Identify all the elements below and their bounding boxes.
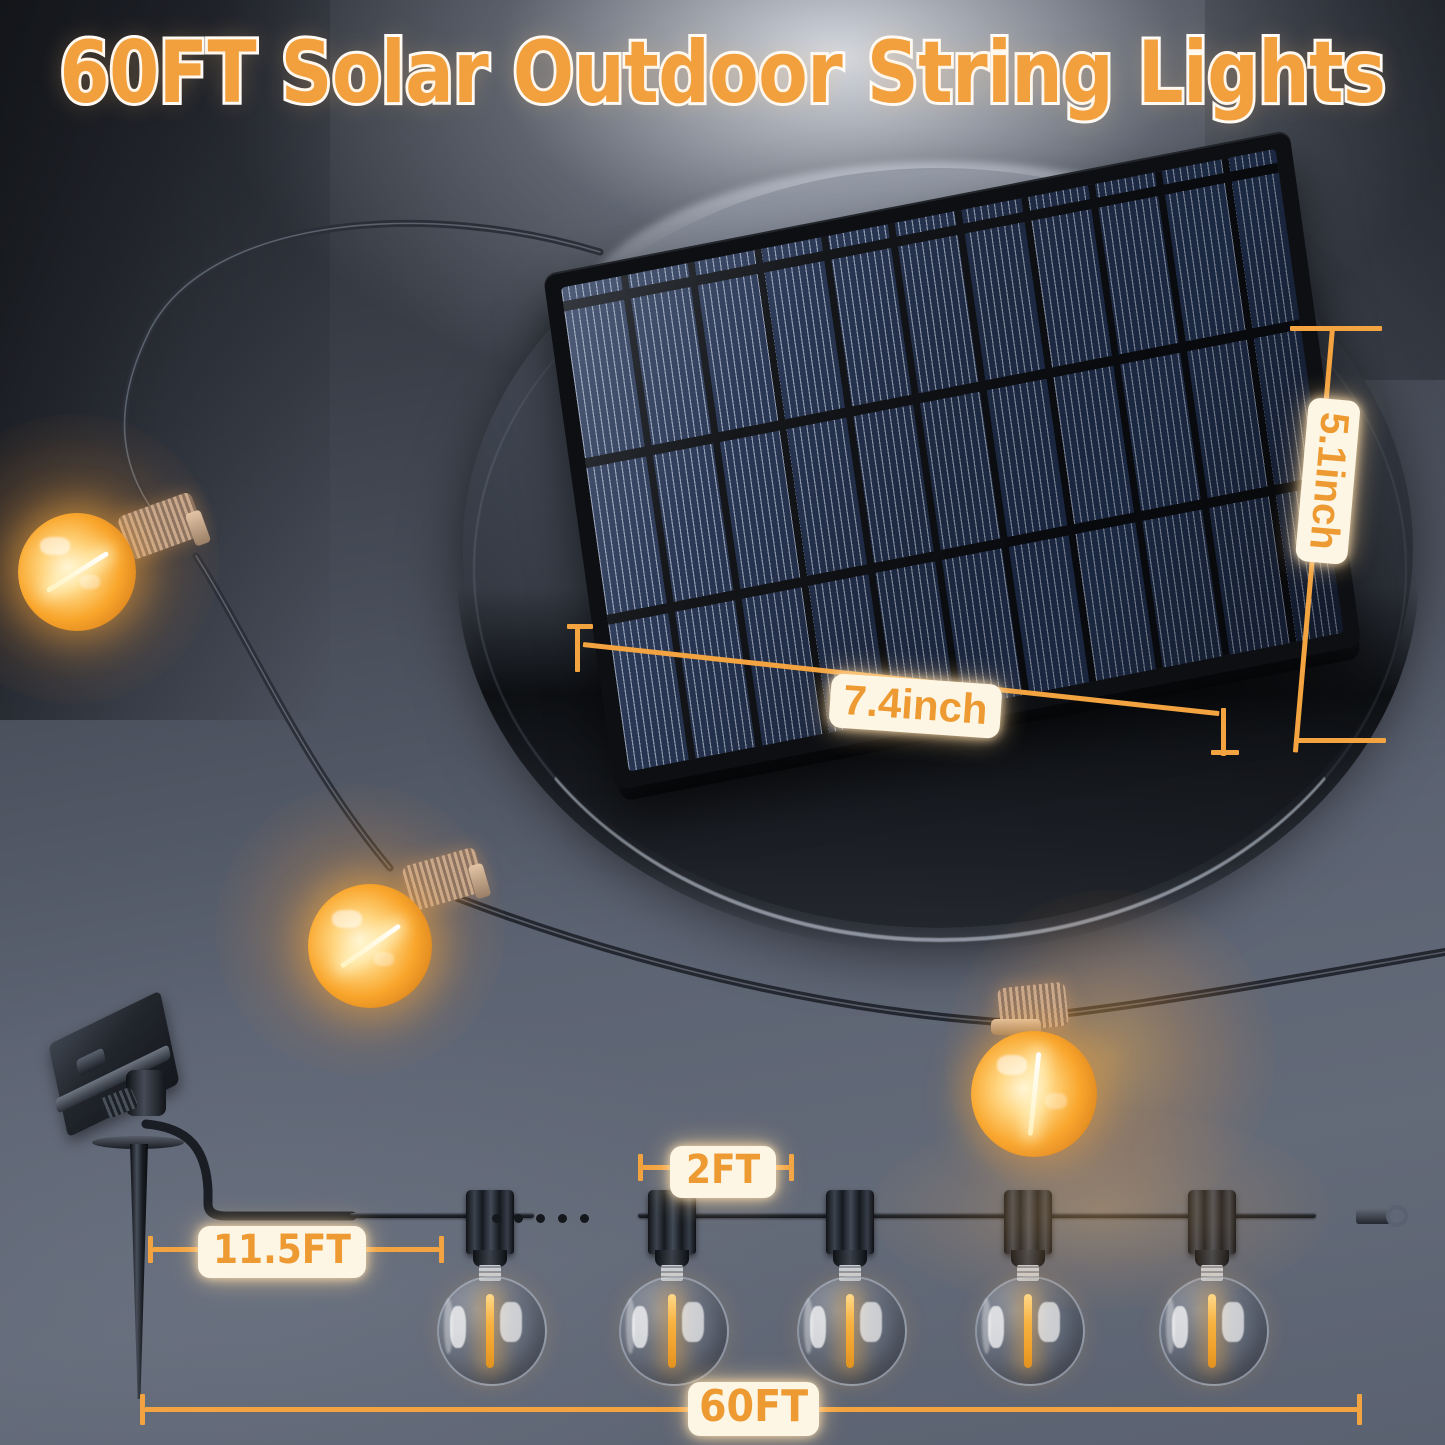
diagram-bulb-3	[790, 1190, 910, 1390]
dimension-end-cap	[148, 1236, 153, 1263]
dimension-end-cap	[439, 1236, 444, 1263]
dimension-end-cap	[1221, 708, 1226, 756]
glow-bulb-2	[302, 852, 522, 1002]
bulb-filament	[1208, 1294, 1216, 1368]
glow-bulb-1	[14, 497, 214, 627]
bulb-highlight	[80, 575, 100, 589]
diagram-bulb-5	[1152, 1190, 1272, 1390]
bulb-highlight	[682, 1302, 704, 1342]
bulb-highlight	[1222, 1302, 1244, 1342]
bulb-highlight	[804, 1298, 813, 1354]
dimension-end-tick	[1290, 326, 1382, 331]
dimension-label-total-length: 60FT	[688, 1382, 819, 1436]
bulb-highlight	[626, 1298, 635, 1354]
bulb-highlight	[860, 1302, 882, 1342]
bulb-filament	[668, 1294, 676, 1368]
bulb-highlight	[444, 1298, 453, 1354]
bulb-socket	[826, 1190, 874, 1254]
dimension-end-tick	[567, 624, 593, 629]
bulb-filament	[1024, 1294, 1032, 1368]
stake-ground-spike	[130, 1144, 148, 1399]
wire-continuation-ellipsis	[492, 1214, 589, 1223]
diagram-bulb-2	[612, 1190, 732, 1390]
bulb-socket	[1004, 1190, 1052, 1254]
dimension-end-cap	[1357, 1394, 1362, 1425]
bulb-highlight	[1038, 1302, 1060, 1342]
bulb-highlight	[500, 1302, 522, 1342]
bulb-filament	[486, 1294, 494, 1368]
dimension-end-tick	[1211, 750, 1239, 755]
dimension-end-cap	[575, 624, 580, 672]
dimension-end-cap	[140, 1394, 145, 1425]
dimension-label-bulb-spacing: 2FT	[670, 1146, 776, 1198]
bulb-highlight	[40, 537, 70, 555]
dimension-label-lead-length: 11.5FT	[198, 1226, 366, 1278]
end-connector-icon	[1356, 1205, 1408, 1227]
bulb-highlight	[1166, 1298, 1175, 1354]
bulb-highlight	[332, 910, 362, 928]
bulb-socket	[648, 1190, 696, 1254]
end-connector-ring	[1386, 1205, 1408, 1227]
dimension-end-tick	[1294, 738, 1386, 743]
dimension-end-cap	[638, 1154, 643, 1181]
bulb-filament	[46, 551, 110, 593]
bulb-glass	[18, 513, 136, 631]
bulb-glass	[308, 884, 432, 1008]
page-title: 60FT Solar Outdoor String Lights	[51, 30, 1395, 116]
bulb-socket	[1188, 1190, 1236, 1254]
string-light-diagram: 2FT 11.5FT 60FT	[0, 1000, 1445, 1445]
product-infographic: 7.4inch 5.1inch	[0, 0, 1445, 1445]
dimension-end-cap	[789, 1154, 794, 1181]
diagram-bulb-4	[968, 1190, 1088, 1390]
end-connector-body	[1356, 1209, 1390, 1224]
ground-stake-icon	[30, 1018, 230, 1418]
bulb-filament	[846, 1294, 854, 1368]
bulb-highlight	[374, 952, 394, 966]
bulb-highlight	[982, 1298, 991, 1354]
